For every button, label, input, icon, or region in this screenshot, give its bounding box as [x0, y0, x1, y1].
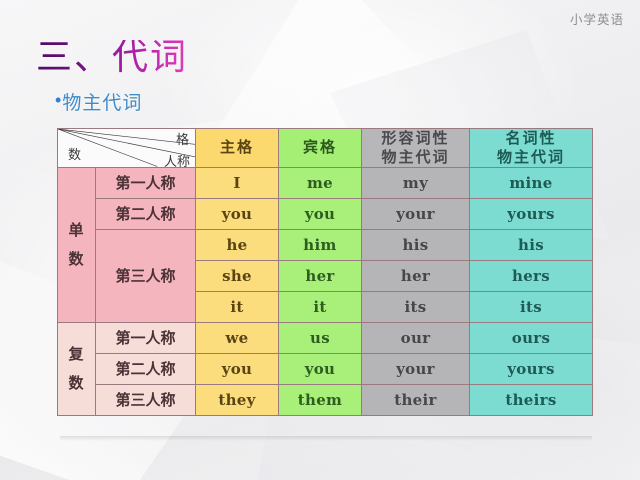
- corner-subject-label: 小学英语: [570, 9, 624, 28]
- cell-objective: her: [279, 260, 362, 291]
- number-char-2: 数: [68, 374, 84, 392]
- cell-possessive_adj: its: [362, 291, 470, 322]
- bullet-icon: •: [55, 91, 61, 109]
- cell-possessive_adj: your: [362, 198, 470, 229]
- cell-possessive_noun: its: [470, 291, 593, 322]
- cell-possessive_adj: your: [362, 353, 470, 384]
- header-line-1: 名词性: [505, 129, 556, 147]
- corner-person-label: 人称: [164, 156, 190, 167]
- table-header-row: 格人称数主格宾格形容词性物主代词名词性物主代词: [58, 129, 593, 168]
- cell-possessive_adj: his: [362, 229, 470, 260]
- cell-objective: us: [279, 322, 362, 353]
- cell-objective: you: [279, 353, 362, 384]
- number-char-1: 复: [68, 345, 84, 363]
- cell-possessive_noun: yours: [470, 353, 593, 384]
- column-header-subjective: 主格: [196, 129, 279, 168]
- table-row: 单数第一人称Imemymine: [58, 167, 593, 198]
- header-line-2: 物主代词: [497, 148, 565, 166]
- header-line-1: 形容词性: [381, 129, 449, 147]
- person-cell: 第二人称: [96, 353, 196, 384]
- cell-subjective: I: [196, 167, 279, 198]
- corner-case-label: 格: [176, 134, 189, 147]
- cell-possessive_adj: their: [362, 384, 470, 415]
- cell-possessive_adj: my: [362, 167, 470, 198]
- person-cell: 第三人称: [96, 229, 196, 322]
- cell-possessive_noun: his: [470, 229, 593, 260]
- number-cell-singular: 单数: [58, 167, 96, 322]
- cell-objective: him: [279, 229, 362, 260]
- corner-diagonal-cell: 格人称数: [58, 129, 196, 168]
- subtitle-text: 物主代词: [62, 88, 142, 115]
- subtitle-row: • 物主代词: [55, 88, 142, 115]
- column-header-possessive_noun: 名词性物主代词: [470, 129, 593, 168]
- cell-subjective: we: [196, 322, 279, 353]
- column-header-objective: 宾格: [279, 129, 362, 168]
- page-title: 三、代词: [36, 40, 188, 76]
- table-row: 第三人称hehimhishis: [58, 229, 593, 260]
- person-cell: 第一人称: [96, 167, 196, 198]
- cell-possessive_adj: our: [362, 322, 470, 353]
- cell-subjective: you: [196, 198, 279, 229]
- number-cell-plural: 复数: [58, 322, 96, 415]
- cell-subjective: you: [196, 353, 279, 384]
- cell-objective: me: [279, 167, 362, 198]
- cell-subjective: they: [196, 384, 279, 415]
- cell-possessive_noun: yours: [470, 198, 593, 229]
- pronoun-table-container: 格人称数主格宾格形容词性物主代词名词性物主代词单数第一人称Imemymine第二…: [57, 128, 592, 416]
- cell-subjective: she: [196, 260, 279, 291]
- column-header-possessive_adj: 形容词性物主代词: [362, 129, 470, 168]
- person-cell: 第三人称: [96, 384, 196, 415]
- number-char-2: 数: [68, 250, 84, 268]
- cell-possessive_noun: mine: [470, 167, 593, 198]
- person-cell: 第一人称: [96, 322, 196, 353]
- table-row: 复数第一人称weusourours: [58, 322, 593, 353]
- cell-objective: it: [279, 291, 362, 322]
- number-char-1: 单: [68, 221, 84, 239]
- cell-possessive_noun: theirs: [470, 384, 593, 415]
- slide-canvas: 小学英语 三、代词 • 物主代词 格人称数主格宾格形容词性物主代词名词性物主代词…: [0, 0, 640, 480]
- header-line-2: 物主代词: [381, 148, 449, 166]
- cell-subjective: he: [196, 229, 279, 260]
- cell-objective: them: [279, 384, 362, 415]
- cell-possessive_adj: her: [362, 260, 470, 291]
- cell-possessive_noun: ours: [470, 322, 593, 353]
- pronoun-table: 格人称数主格宾格形容词性物主代词名词性物主代词单数第一人称Imemymine第二…: [57, 128, 593, 416]
- table-drop-shadow: [60, 436, 592, 441]
- table-row: 第二人称youyouyouryours: [58, 198, 593, 229]
- person-cell: 第二人称: [96, 198, 196, 229]
- table-row: 第二人称youyouyouryours: [58, 353, 593, 384]
- cell-objective: you: [279, 198, 362, 229]
- cell-subjective: it: [196, 291, 279, 322]
- cell-possessive_noun: hers: [470, 260, 593, 291]
- corner-number-label: 数: [68, 149, 81, 162]
- table-row: 第三人称theythemtheirtheirs: [58, 384, 593, 415]
